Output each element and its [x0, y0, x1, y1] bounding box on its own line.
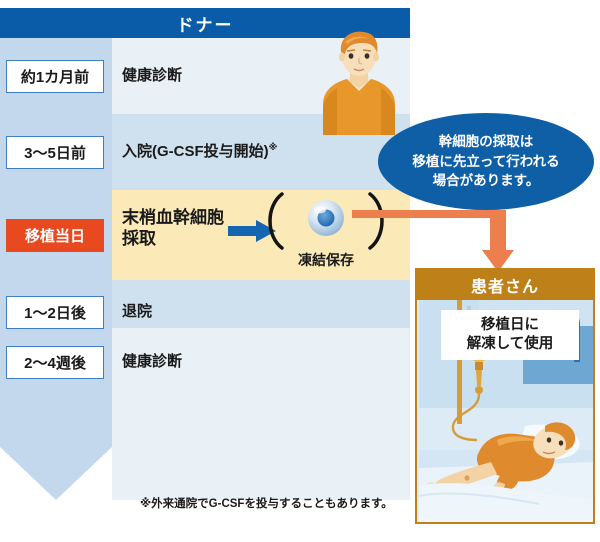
time-chip-5: 2〜4週後	[6, 346, 104, 379]
time-chip-3-transplant-day: 移植当日	[6, 219, 104, 252]
time-chip-4: 1〜2日後	[6, 296, 104, 329]
row-label-4: 退院	[122, 303, 152, 322]
donor-person-illustration	[305, 30, 413, 135]
patient-note-box: 移植日に 解凍して使用	[441, 310, 579, 360]
footnote-marker-icon: ※	[269, 142, 278, 152]
orange-elbow-arrow-icon	[352, 210, 542, 276]
patient-panel: 患者さん	[415, 268, 595, 524]
row-label-2: 入院(G-CSF投与開始)※	[122, 142, 277, 162]
time-chip-2: 3〜5日前	[6, 136, 104, 169]
time-chip-1: 約1カ月前	[6, 60, 104, 93]
timeline-row-4: 1〜2日後 退院	[0, 294, 410, 330]
timeline-row-5: 2〜4週後 健康診断	[0, 344, 410, 380]
row-label-3: 末梢血幹細胞 採取	[122, 207, 224, 250]
row-label-2-text: 入院(G-CSF投与開始)	[122, 143, 269, 160]
callout-bubble: 幹細胞の採取は 移植に先立って行われる 場合があります。	[378, 113, 594, 210]
row-label-1: 健康診断	[122, 67, 182, 86]
timeline-arrow-column	[0, 38, 112, 500]
patient-panel-header: 患者さん	[417, 270, 593, 300]
timeline-row-2: 3〜5日前 入院(G-CSF投与開始)※	[0, 134, 410, 170]
row-label-5: 健康診断	[122, 353, 182, 372]
footnote-text: ※外来通院でG-CSFを投与することもあります。	[140, 495, 393, 511]
